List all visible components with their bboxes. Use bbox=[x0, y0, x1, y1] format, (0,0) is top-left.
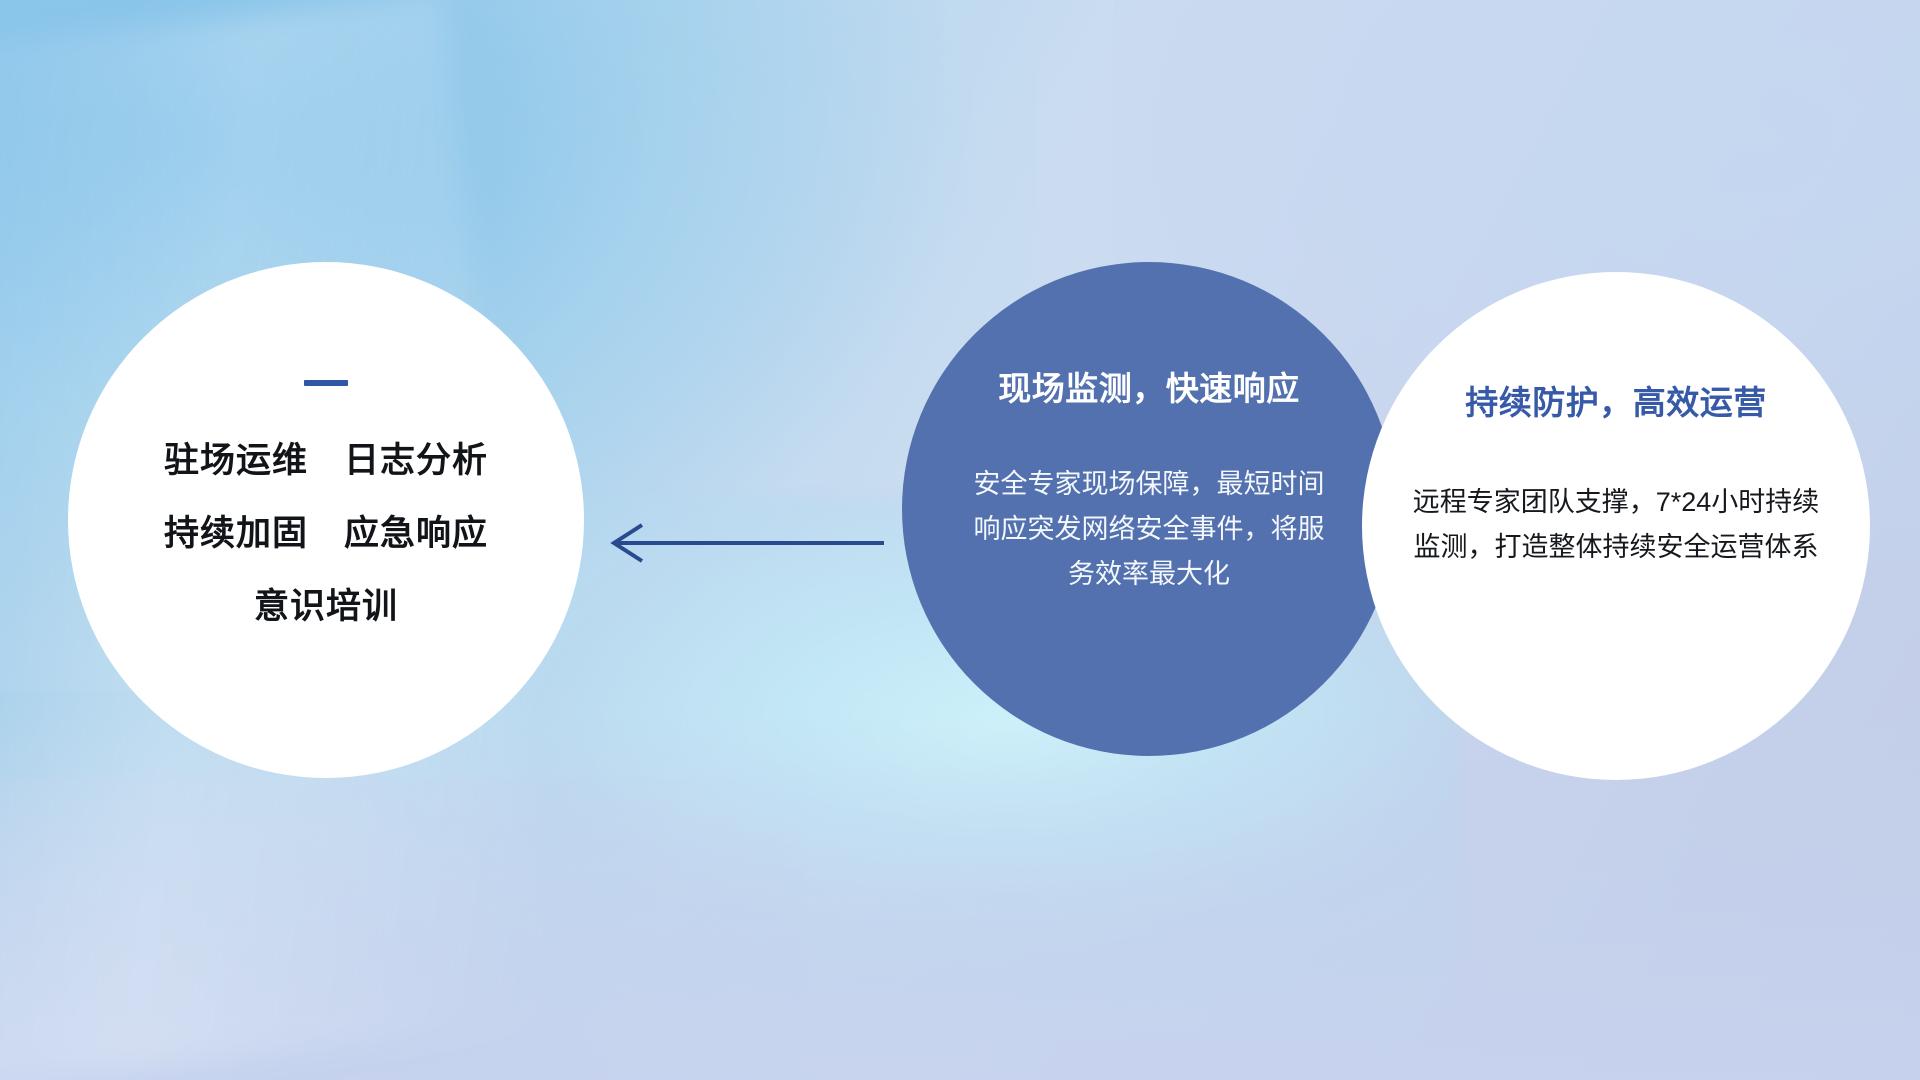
arrow-left-icon bbox=[596, 508, 886, 578]
onsite-capabilities-circle: 驻场运维 日志分析 持续加固 应急响应 意识培训 bbox=[68, 262, 584, 778]
continuous-operations-circle: 持续防护，高效运营 远程专家团队支撑，7*24小时持续监测，打造整体持续安全运营… bbox=[1362, 272, 1870, 780]
onsite-monitoring-circle: 现场监测，快速响应 安全专家现场保障，最短时间响应突发网络安全事件，将服务效率最… bbox=[902, 262, 1396, 756]
right-circle-body: 远程专家团队支撑，7*24小时持续监测，打造整体持续安全运营体系 bbox=[1410, 480, 1822, 570]
right-circle-content: 持续防护，高效运营 远程专家团队支撑，7*24小时持续监测，打造整体持续安全运营… bbox=[1391, 376, 1841, 570]
capability-row: 驻场运维 日志分析 bbox=[111, 432, 541, 483]
mid-circle-heading: 现场监测，快速响应 bbox=[939, 362, 1359, 410]
capability-row: 持续加固 应急响应 bbox=[111, 505, 541, 556]
left-circle-content: 驻场运维 日志分析 持续加固 应急响应 意识培训 bbox=[111, 380, 541, 629]
capability-tag: 应急响应 bbox=[344, 505, 488, 556]
capability-tag: 日志分析 bbox=[344, 432, 488, 483]
horizontal-dash-icon bbox=[304, 380, 348, 386]
mid-circle-body: 安全专家现场保障，最短时间响应突发网络安全事件，将服务效率最大化 bbox=[973, 462, 1325, 597]
slide-canvas: 驻场运维 日志分析 持续加固 应急响应 意识培训 现场监测，快速响应 安全专家现… bbox=[0, 0, 1920, 1080]
right-circle-heading: 持续防护，高效运营 bbox=[1391, 376, 1841, 424]
capability-tag: 持续加固 bbox=[164, 505, 308, 556]
capability-tag: 驻场运维 bbox=[164, 432, 308, 483]
mid-circle-content: 现场监测，快速响应 安全专家现场保障，最短时间响应突发网络安全事件，将服务效率最… bbox=[939, 362, 1359, 597]
capability-tag: 意识培训 bbox=[111, 578, 541, 629]
